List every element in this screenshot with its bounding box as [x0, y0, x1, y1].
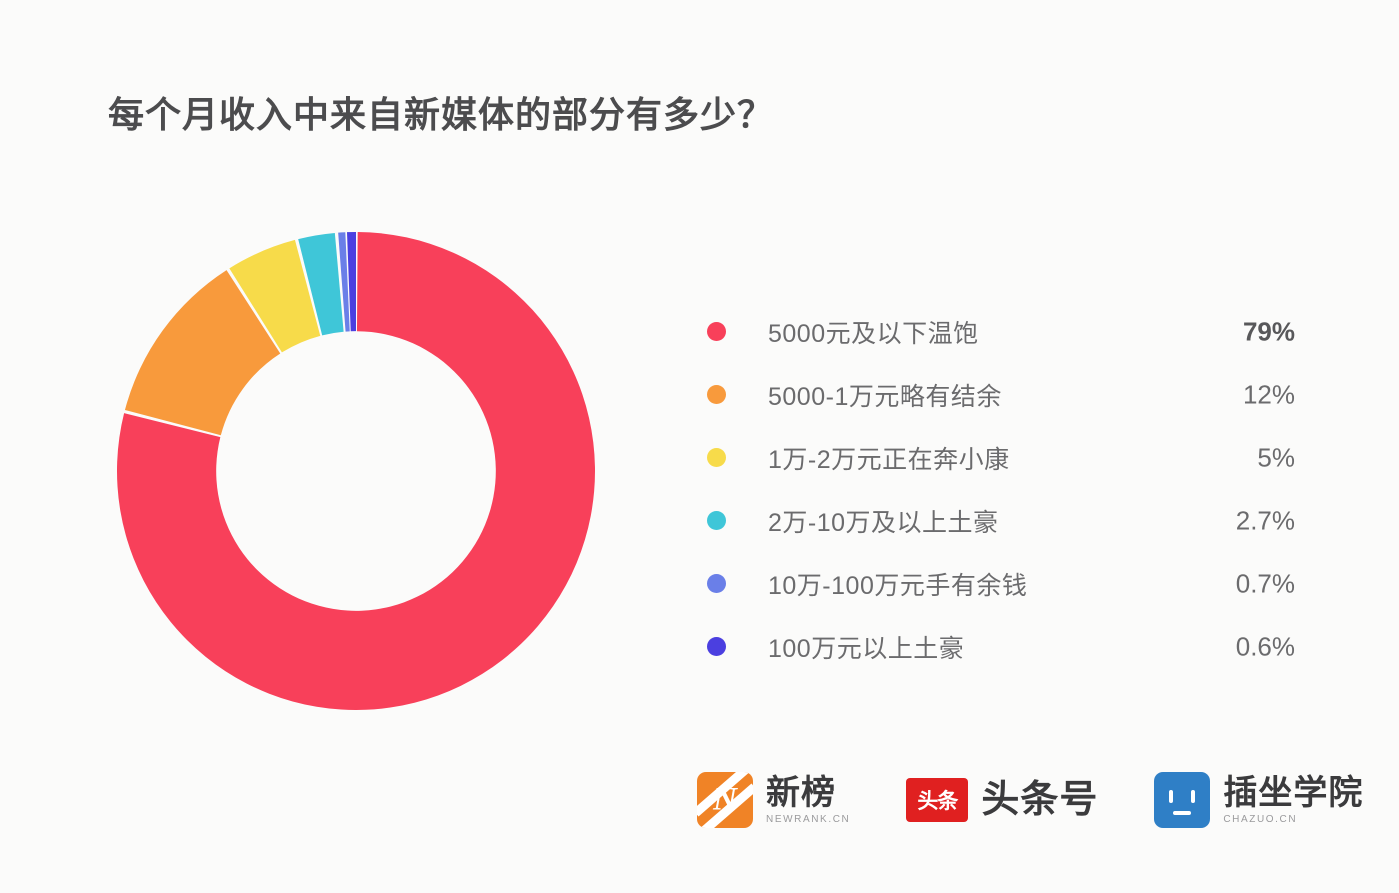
- newrank-logo-sub: NEWRANK.CN: [766, 815, 850, 825]
- donut-chart: [117, 232, 595, 710]
- legend-item[interactable]: 5000元及以下温饱79%: [707, 300, 1299, 363]
- logo-chazuo: 插坐学院 CHAZUO.CN: [1154, 772, 1363, 828]
- legend-item-label: 1万-2万元正在奔小康: [768, 440, 1010, 476]
- donut-chart-svg: [117, 232, 595, 710]
- legend-color-dot-icon: [707, 448, 726, 467]
- chazuo-eye-right-icon: [1191, 790, 1195, 803]
- legend-item[interactable]: 100万元以上土豪0.6%: [707, 615, 1299, 678]
- legend-item-value: 0.6%: [1236, 631, 1295, 662]
- legend-color-dot-icon: [707, 322, 726, 341]
- chazuo-logo-sub: CHAZUO.CN: [1223, 815, 1363, 825]
- page-title: 每个月收入中来自新媒体的部分有多少？: [108, 86, 774, 138]
- newrank-logo-text: 新榜 NEWRANK.CN: [766, 776, 850, 825]
- chazuo-eye-left-icon: [1169, 790, 1173, 803]
- toutiaohao-logo-text: 头条号: [981, 781, 1098, 819]
- legend-item-label: 5000-1万元略有结余: [768, 377, 1002, 413]
- legend-color-dot-icon: [707, 574, 726, 593]
- legend-item-value: 0.7%: [1236, 568, 1295, 599]
- chazuo-face-mark: [1154, 772, 1210, 828]
- legend-item-value: 5%: [1257, 442, 1295, 473]
- chazuo-logo-icon: [1154, 772, 1210, 828]
- toutiaohao-logo-name: 头条号: [981, 781, 1098, 819]
- chazuo-logo-text: 插坐学院 CHAZUO.CN: [1223, 776, 1363, 825]
- legend-item-label: 10万-100万元手有余钱: [768, 566, 1027, 602]
- toutiaohao-mark-glyph: 头条: [917, 785, 957, 815]
- legend-item-label: 100万元以上土豪: [768, 629, 964, 665]
- newrank-logo-icon: N: [697, 772, 753, 828]
- footer-logo-strip: N 新榜 NEWRANK.CN 头条 头条号 插坐学院 CHAZUO.CN: [697, 772, 1363, 828]
- legend-item[interactable]: 5000-1万元略有结余12%: [707, 363, 1299, 426]
- legend-item-label: 2万-10万及以上土豪: [768, 503, 999, 539]
- legend-item-label: 5000元及以下温饱: [768, 314, 979, 350]
- legend-item-value: 79%: [1243, 316, 1295, 347]
- legend-item[interactable]: 2万-10万及以上土豪2.7%: [707, 489, 1299, 552]
- legend-color-dot-icon: [707, 637, 726, 656]
- donut-slice-group: [117, 232, 595, 710]
- legend-item[interactable]: 10万-100万元手有余钱0.7%: [707, 552, 1299, 615]
- logo-newrank: N 新榜 NEWRANK.CN: [697, 772, 850, 828]
- legend-color-dot-icon: [707, 511, 726, 530]
- legend-color-dot-icon: [707, 385, 726, 404]
- logo-toutiaohao: 头条 头条号: [906, 778, 1098, 822]
- legend-item-value: 2.7%: [1236, 505, 1295, 536]
- legend-item[interactable]: 1万-2万元正在奔小康5%: [707, 426, 1299, 489]
- legend-item-value: 12%: [1243, 379, 1295, 410]
- chazuo-mouth-icon: [1173, 811, 1191, 815]
- newrank-logo-name: 新榜: [766, 776, 850, 810]
- chart-legend: 5000元及以下温饱79%5000-1万元略有结余12%1万-2万元正在奔小康5…: [707, 300, 1299, 678]
- chazuo-logo-name: 插坐学院: [1223, 776, 1363, 810]
- newrank-mark-glyph: N: [713, 782, 737, 819]
- toutiaohao-logo-icon: 头条: [906, 778, 968, 822]
